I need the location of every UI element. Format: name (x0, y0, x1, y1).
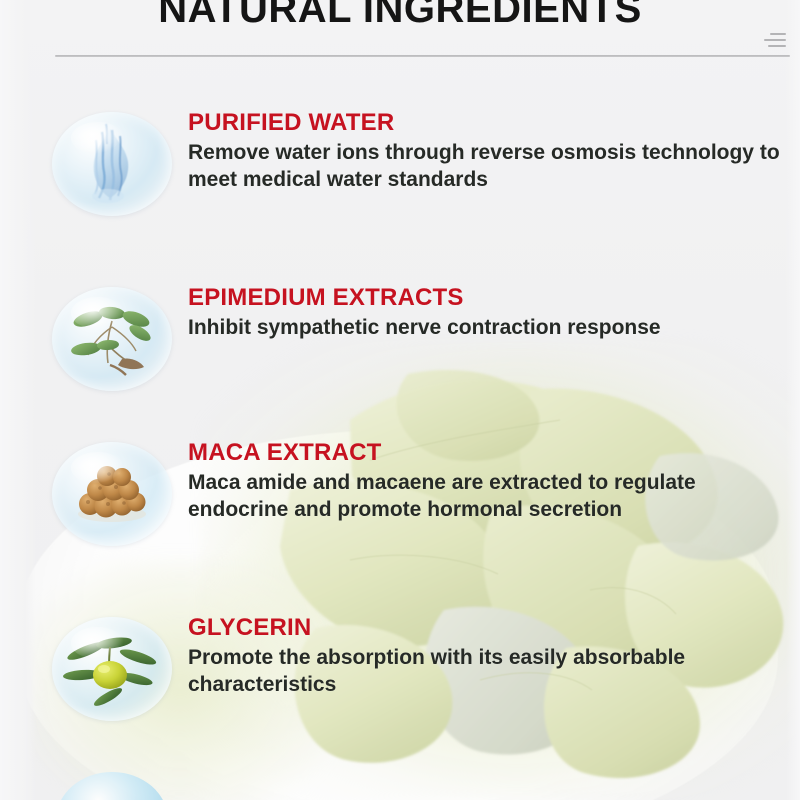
ingredient-name: GLYCERIN (188, 615, 786, 641)
water-splash-icon (52, 112, 172, 216)
ingredient-description: Maca amide and macaene are extracted to … (188, 470, 786, 523)
ingredient-item-epimedium-extracts: EPIMEDIUM EXTRACTS Inhibit sympathetic n… (0, 285, 800, 391)
ingredient-text-block: GLYCERIN Promote the absorption with its… (172, 615, 800, 699)
ingredient-name: EPIMEDIUM EXTRACTS (188, 285, 786, 311)
ingredient-description: Remove water ions through reverse osmosi… (188, 140, 786, 193)
maca-root-icon (52, 442, 172, 546)
epimedium-plant-icon (52, 287, 172, 391)
ingredient-name: PURIFIED WATER (188, 110, 786, 136)
ingredient-name: MACA EXTRACT (188, 440, 786, 466)
olive-glycerin-icon (52, 617, 172, 721)
ingredient-description: Inhibit sympathetic nerve contraction re… (188, 315, 786, 342)
ingredient-text-block: PURIFIED WATER Remove water ions through… (172, 110, 800, 194)
ingredient-item-maca-extract: MACA EXTRACT Maca amide and macaene are … (0, 440, 800, 546)
ingredient-item-purified-water: PURIFIED WATER Remove water ions through… (0, 110, 800, 216)
ingredient-description: Promote the absorption with its easily a… (188, 645, 786, 698)
ingredients-page: NATURAL INGREDIENTS (0, 0, 800, 800)
ingredient-item-glycerin: GLYCERIN Promote the absorption with its… (0, 615, 800, 721)
ingredient-text-block: MACA EXTRACT Maca amide and macaene are … (172, 440, 800, 524)
ingredient-list: PURIFIED WATER Remove water ions through… (0, 0, 800, 800)
ingredient-text-block: EPIMEDIUM EXTRACTS Inhibit sympathetic n… (172, 285, 800, 342)
